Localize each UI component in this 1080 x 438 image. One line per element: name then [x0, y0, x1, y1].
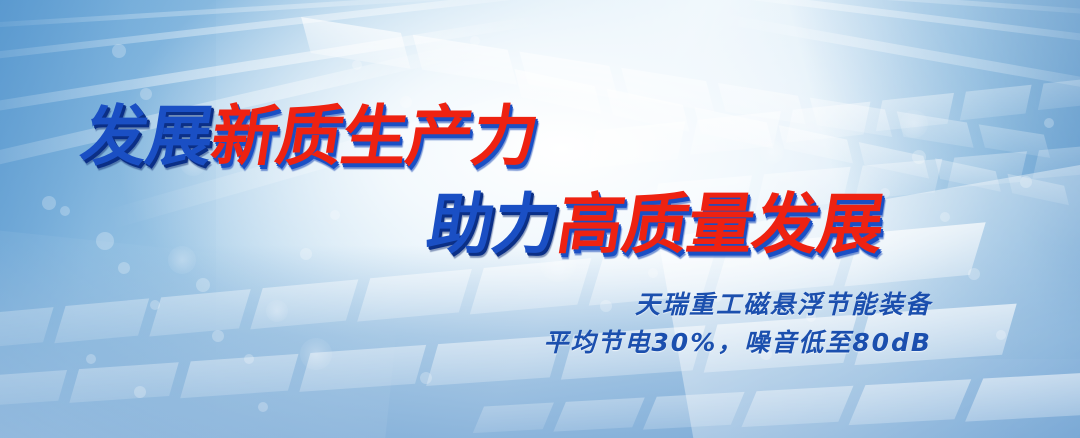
- subtitle-line-2: 平均节电30%，噪音低至80dB: [543, 330, 932, 355]
- headline-line-2: 助力高质量发展: [428, 192, 883, 258]
- headline-line-1-blue: 发展: [77, 104, 217, 170]
- headline-line-2-blue: 助力: [423, 192, 563, 258]
- banner-content: 发展新质生产力 助力高质量发展 天瑞重工磁悬浮节能装备 平均节电30%，噪音低至…: [0, 0, 1080, 438]
- headline-line-1-red: 新质生产力: [207, 104, 542, 170]
- headline-line-2-red: 高质量发展: [553, 192, 888, 258]
- headline-line-1: 发展新质生产力: [82, 104, 537, 170]
- subtitle-line-1: 天瑞重工磁悬浮节能装备: [635, 292, 932, 317]
- promotional-banner: 发展新质生产力 助力高质量发展 天瑞重工磁悬浮节能装备 平均节电30%，噪音低至…: [0, 0, 1080, 438]
